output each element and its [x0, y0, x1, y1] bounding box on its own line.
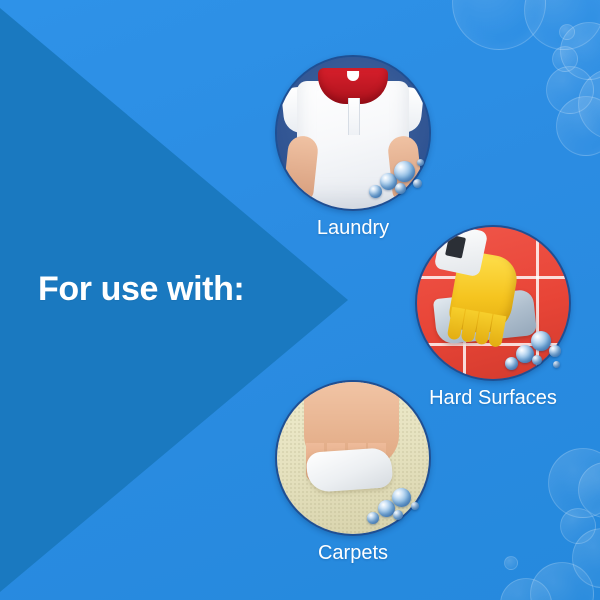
background-bubble-icon	[452, 0, 546, 50]
background-bubble-icon	[560, 22, 600, 80]
background-bubble-icon	[552, 46, 578, 72]
poster-canvas: For use with:	[0, 0, 600, 600]
carpets-image	[275, 380, 431, 536]
background-bubble-icon	[500, 578, 552, 600]
laundry-circle-wrap: Laundry	[275, 55, 431, 211]
feature-label-hard-surfaces: Hard Surfaces	[429, 387, 557, 410]
hard-surfaces-artwork	[417, 227, 569, 379]
background-bubble-icon	[548, 448, 600, 518]
carpets-circle-wrap: Carpets	[275, 380, 431, 536]
feature-carpets[interactable]: Carpets	[275, 380, 431, 536]
feature-laundry[interactable]: Laundry	[275, 55, 431, 211]
background-bubble-icon	[530, 562, 594, 600]
hard-surfaces-circle-wrap: Hard Surfaces	[415, 225, 571, 381]
background-bubble-icon	[572, 528, 600, 588]
background-bubble-icon	[559, 24, 575, 40]
shirt-collar-notch	[347, 71, 359, 81]
page-title: For use with:	[38, 272, 244, 306]
hard-surfaces-image	[415, 225, 571, 381]
laundry-image	[275, 55, 431, 211]
laundry-artwork	[277, 57, 429, 209]
background-bubble-icon	[560, 508, 596, 544]
shirt-placket	[348, 98, 359, 134]
grout-line	[536, 227, 539, 379]
carpets-artwork	[277, 382, 429, 534]
background-bubble-icon	[524, 0, 600, 50]
background-bubble-icon	[546, 66, 594, 114]
feature-label-laundry: Laundry	[317, 217, 389, 240]
cleaning-cloth	[306, 447, 394, 492]
feature-hard-surfaces[interactable]: Hard Surfaces	[415, 225, 571, 381]
background-bubble-icon	[578, 462, 600, 518]
background-bubble-icon	[578, 68, 600, 140]
background-bubble-icon	[556, 96, 600, 156]
background-bubble-icon	[504, 556, 518, 570]
feature-label-carpets: Carpets	[318, 542, 388, 565]
